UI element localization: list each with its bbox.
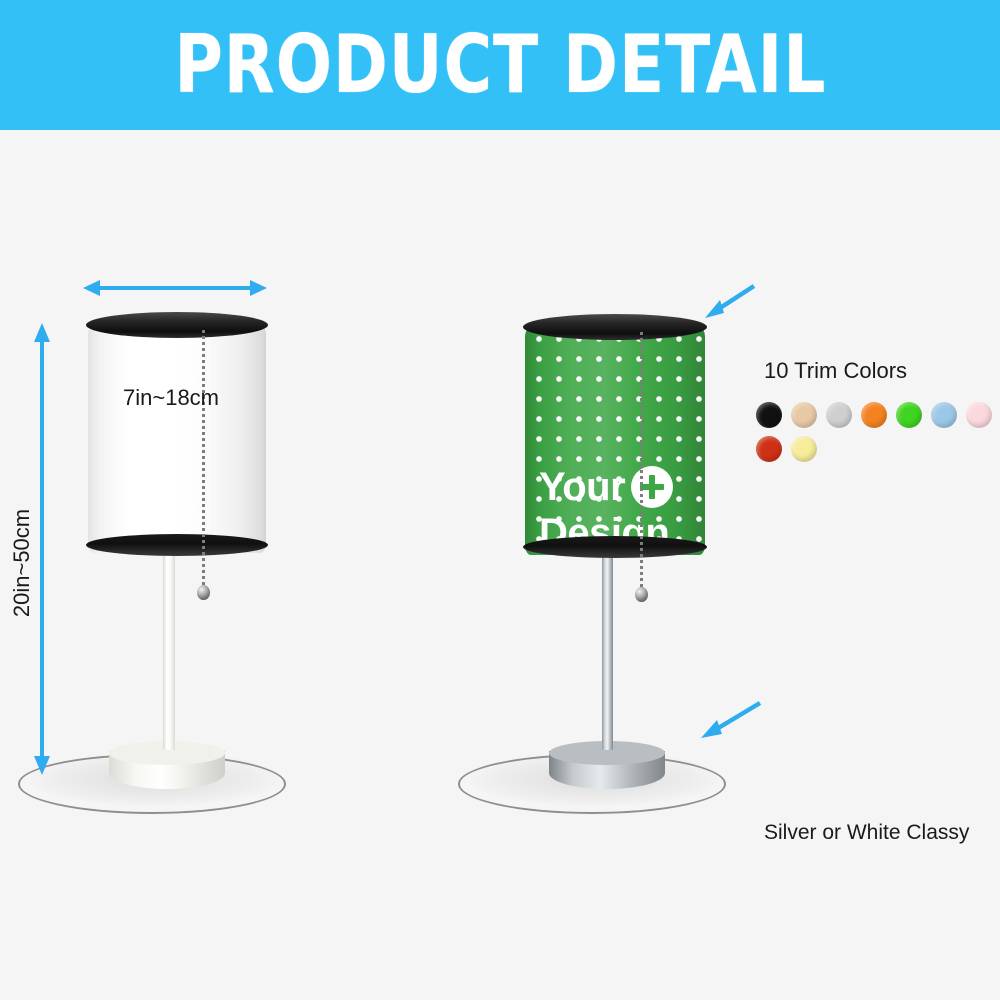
trim-colors-label: 10 Trim Colors [764,358,907,384]
trim-color-swatch-list [756,402,1000,462]
width-dimension-arrow [83,280,267,296]
trim-swatch-light-blue[interactable] [931,402,957,428]
page-title: PRODUCT DETAIL [174,25,826,105]
height-dimension-label: 20in~50cm [9,509,35,617]
header-banner: PRODUCT DETAIL [0,0,1000,130]
trim-swatch-yellow[interactable] [791,436,817,462]
left-lamp-shade [88,325,266,553]
trim-swatch-tan[interactable] [791,402,817,428]
right-lamp-shade-top-trim [523,314,707,340]
height-dimension-arrow [34,323,50,775]
trim-swatch-pink[interactable] [966,402,992,428]
left-lamp-pole [163,552,175,750]
artwork-line-1: Your [539,465,625,509]
annotation-arrows [0,130,1000,1000]
left-lamp-shade-top-trim [86,312,268,338]
trim-swatch-green[interactable] [896,402,922,428]
trim-swatch-orange[interactable] [861,402,887,428]
trim-swatch-black[interactable] [756,402,782,428]
base-finish-label: Silver or White Classy [764,821,969,845]
left-lamp-shade-bottom-trim [86,534,268,556]
right-lamp-shade-bottom-trim [523,536,707,558]
base-pointer-arrow [701,703,760,738]
right-lamp-pole [602,552,613,750]
plus-icon [631,466,673,508]
trim-swatch-light-gray[interactable] [826,402,852,428]
trim-pointer-arrow [705,286,754,318]
width-dimension-label: 7in~18cm [123,385,219,411]
trim-swatch-red[interactable] [756,436,782,462]
product-detail-stage: Your Design [0,130,1000,1000]
